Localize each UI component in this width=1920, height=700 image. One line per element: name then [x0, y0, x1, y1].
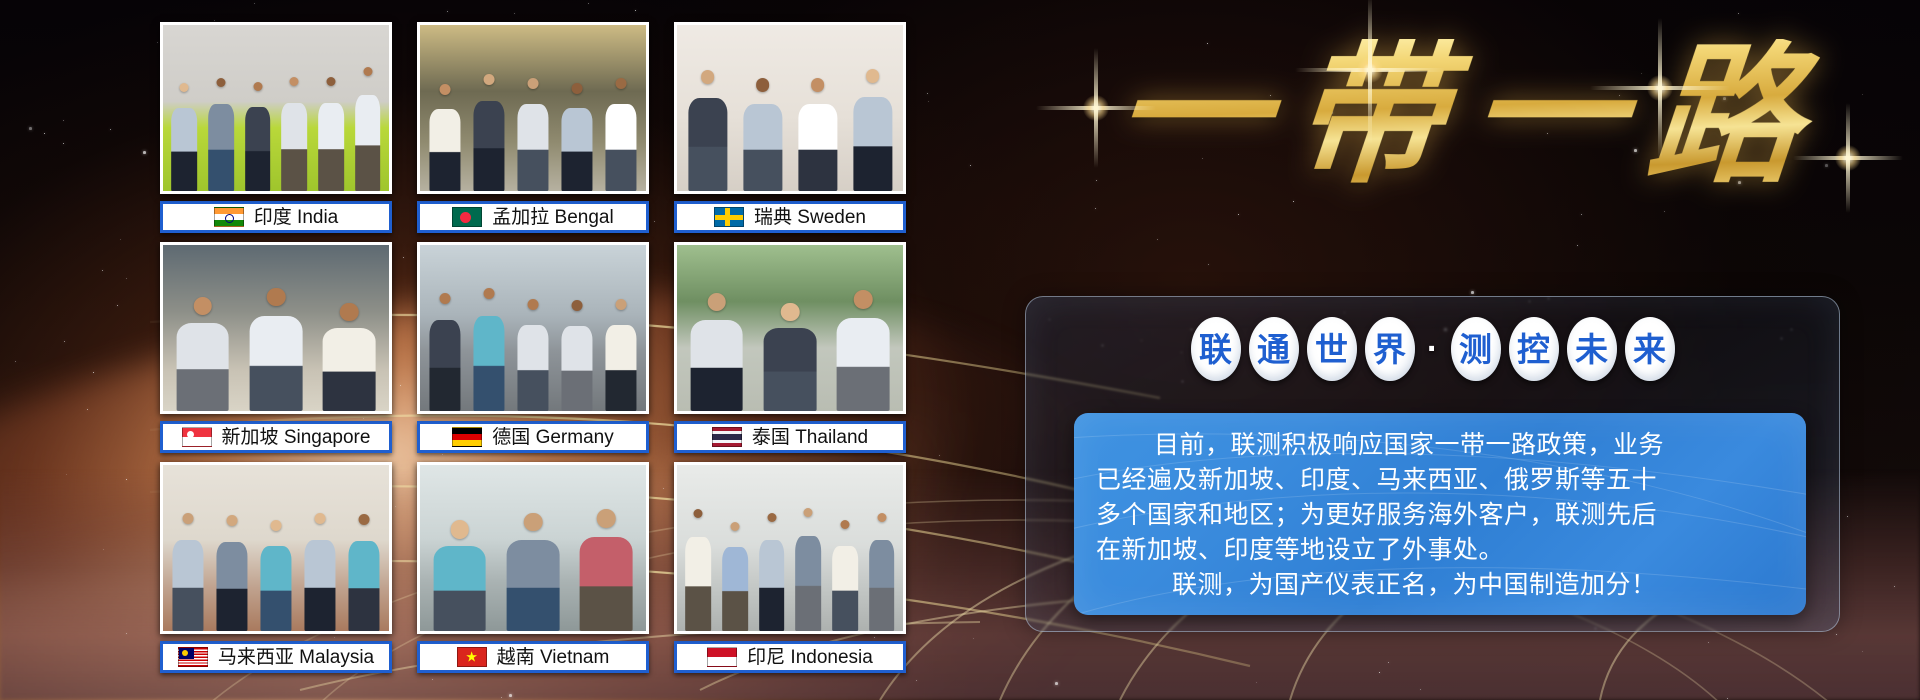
person-figure [600, 73, 642, 191]
person-figure [600, 294, 642, 411]
people-group [677, 62, 903, 191]
people-group [163, 502, 389, 631]
country-name-en: India [292, 207, 338, 228]
group-photo-bengal [417, 22, 649, 194]
country-label-plate[interactable]: 越南 Vietnam [417, 641, 649, 673]
group-photo-vietnam [417, 462, 649, 634]
slogan-separator: · [1423, 330, 1443, 369]
person-figure [468, 283, 510, 411]
person-figure [468, 69, 510, 191]
flag-indonesia-icon [707, 647, 737, 667]
person-figure [277, 72, 312, 191]
description-line-3: 在新加坡、印度等地设立了外事处。 [1096, 532, 1784, 567]
grid-cell: 泰国 Thailand [674, 242, 906, 454]
slogan-char-7: 来 [1625, 317, 1675, 381]
people-group [163, 62, 389, 191]
person-figure [424, 288, 466, 411]
grid-cell: 印度 India [160, 22, 392, 234]
person-figure [497, 508, 568, 631]
grid-cell: 越南 Vietnam [417, 462, 649, 674]
person-figure [343, 509, 385, 631]
description-line-1: 已经遍及新加坡、印度、马来西亚、俄罗斯等五十 [1096, 462, 1784, 497]
banner-stage: 印度 India孟加拉 Bengal瑞典 Sweden新加坡 Singapore… [0, 0, 1920, 700]
country-name-cn: 越南 [497, 646, 535, 668]
country-label-plate[interactable]: 德国 Germany [417, 421, 649, 453]
country-label-text: 瑞典 Sweden [754, 208, 866, 227]
country-name-cn: 印度 [254, 206, 292, 228]
person-figure [167, 292, 238, 411]
person-figure [828, 285, 899, 411]
country-name-en: Bengal [549, 207, 613, 228]
flag-india-icon [214, 207, 244, 227]
country-name-en: Thailand [790, 427, 868, 448]
person-figure [424, 516, 495, 631]
slogan-char-0: 联 [1191, 317, 1241, 381]
flag-singapore-icon [182, 427, 212, 447]
group-photo-singapore [160, 242, 392, 414]
slogan-char-5: 控 [1509, 317, 1559, 381]
flag-germany-icon [452, 427, 482, 447]
country-name-en: Vietnam [535, 647, 610, 668]
slogan-char-2: 世 [1307, 317, 1357, 381]
country-label-text: 越南 Vietnam [497, 648, 610, 667]
country-label-plate[interactable]: 印度 India [160, 201, 392, 233]
group-photo-indonesia [674, 462, 906, 634]
person-figure [681, 65, 734, 191]
people-group [163, 282, 389, 411]
country-name-cn: 德国 [492, 426, 530, 448]
headline-text: 一带一路 [1086, 39, 1833, 191]
slogan-char-6: 未 [1567, 317, 1617, 381]
person-figure [167, 508, 209, 631]
people-group [677, 282, 903, 411]
grid-cell: 瑞典 Sweden [674, 22, 906, 234]
country-label-plate[interactable]: 孟加拉 Bengal [417, 201, 649, 233]
country-label-plate[interactable]: 瑞典 Sweden [674, 201, 906, 233]
person-figure [314, 72, 349, 191]
country-label-text: 印尼 Indonesia [747, 648, 873, 667]
country-name-cn: 马来西亚 [218, 646, 294, 668]
person-figure [828, 516, 863, 631]
group-photo-sweden [674, 22, 906, 194]
grid-cell: 孟加拉 Bengal [417, 22, 649, 234]
flag-malaysia-icon [178, 647, 208, 667]
person-figure [240, 77, 275, 191]
person-figure [512, 294, 554, 411]
person-figure [299, 508, 341, 631]
country-name-en: Germany [530, 427, 613, 448]
flag-sweden-icon [714, 207, 744, 227]
country-label-text: 泰国 Thailand [752, 428, 868, 447]
info-panel: 联通世界·测控未来 目前，联测积极响应国家一带一路政策，业务已经遍及新加坡、印度… [1025, 296, 1840, 632]
person-figure [350, 62, 385, 191]
description-line-2: 多个国家和地区；为更好服务海外客户，联测先后 [1096, 497, 1784, 532]
slogan-char-3: 界 [1365, 317, 1415, 381]
country-name-en: Sweden [792, 207, 866, 228]
person-figure [791, 503, 826, 631]
country-label-plate[interactable]: 马来西亚 Malaysia [160, 641, 392, 673]
description-line-0: 目前，联测积极响应国家一带一路政策，业务 [1096, 427, 1784, 462]
group-photo-germany [417, 242, 649, 414]
person-figure [211, 511, 253, 631]
country-name-cn: 印尼 [747, 646, 785, 668]
country-name-cn: 瑞典 [754, 206, 792, 228]
country-label-text: 孟加拉 Bengal [492, 208, 613, 227]
country-name-en: Singapore [279, 427, 371, 448]
person-figure [791, 73, 844, 191]
country-photo-grid: 印度 India孟加拉 Bengal瑞典 Sweden新加坡 Singapore… [160, 22, 950, 684]
country-label-text: 马来西亚 Malaysia [218, 648, 374, 667]
group-photo-malaysia [160, 462, 392, 634]
person-figure [424, 80, 466, 191]
person-figure [754, 298, 825, 411]
country-name-cn: 新加坡 [222, 426, 279, 448]
group-photo-thailand [674, 242, 906, 414]
country-label-plate[interactable]: 泰国 Thailand [674, 421, 906, 453]
slogan-char-1: 通 [1249, 317, 1299, 381]
person-figure [571, 504, 642, 631]
person-figure [681, 504, 716, 631]
country-name-en: Malaysia [294, 647, 374, 668]
person-figure [736, 73, 789, 191]
person-figure [512, 73, 554, 191]
person-figure [556, 78, 598, 191]
person-figure [255, 516, 297, 631]
country-label-text: 印度 India [254, 208, 339, 227]
people-group [420, 282, 646, 411]
flag-bangladesh-icon [452, 207, 482, 227]
person-figure [240, 283, 311, 411]
person-figure [864, 508, 899, 631]
person-figure [754, 508, 789, 631]
grid-cell: 马来西亚 Malaysia [160, 462, 392, 674]
person-figure [846, 64, 899, 191]
grid-cell: 新加坡 Singapore [160, 242, 392, 454]
country-name-cn: 泰国 [752, 426, 790, 448]
description-text: 目前，联测积极响应国家一带一路政策，业务已经遍及新加坡、印度、马来西亚、俄罗斯等… [1096, 427, 1784, 602]
flag-vietnam-icon [457, 647, 487, 667]
grid-cell: 印尼 Indonesia [674, 462, 906, 674]
person-figure [681, 288, 752, 411]
country-name-cn: 孟加拉 [492, 206, 549, 228]
slogan-char-4: 测 [1451, 317, 1501, 381]
country-label-text: 新加坡 Singapore [222, 428, 371, 447]
flag-thailand-icon [712, 427, 742, 447]
person-figure [556, 296, 598, 411]
slogan-row: 联通世界·测控未来 [1026, 317, 1839, 381]
person-figure [167, 78, 202, 191]
person-figure [314, 298, 385, 411]
person-figure [718, 517, 753, 631]
headline-belt-and-road: 一带一路 [1010, 10, 1910, 220]
person-figure [204, 73, 239, 191]
description-line-4: 联测，为国产仪表正名，为中国制造加分！ [1096, 567, 1784, 602]
group-photo-india [160, 22, 392, 194]
people-group [420, 62, 646, 191]
country-label-text: 德国 Germany [492, 428, 613, 447]
people-group [677, 502, 903, 631]
grid-cell: 德国 Germany [417, 242, 649, 454]
country-name-en: Indonesia [785, 647, 873, 668]
country-label-plate[interactable]: 印尼 Indonesia [674, 641, 906, 673]
country-label-plate[interactable]: 新加坡 Singapore [160, 421, 392, 453]
description-card: 目前，联测积极响应国家一带一路政策，业务已经遍及新加坡、印度、马来西亚、俄罗斯等… [1074, 413, 1806, 615]
people-group [420, 502, 646, 631]
